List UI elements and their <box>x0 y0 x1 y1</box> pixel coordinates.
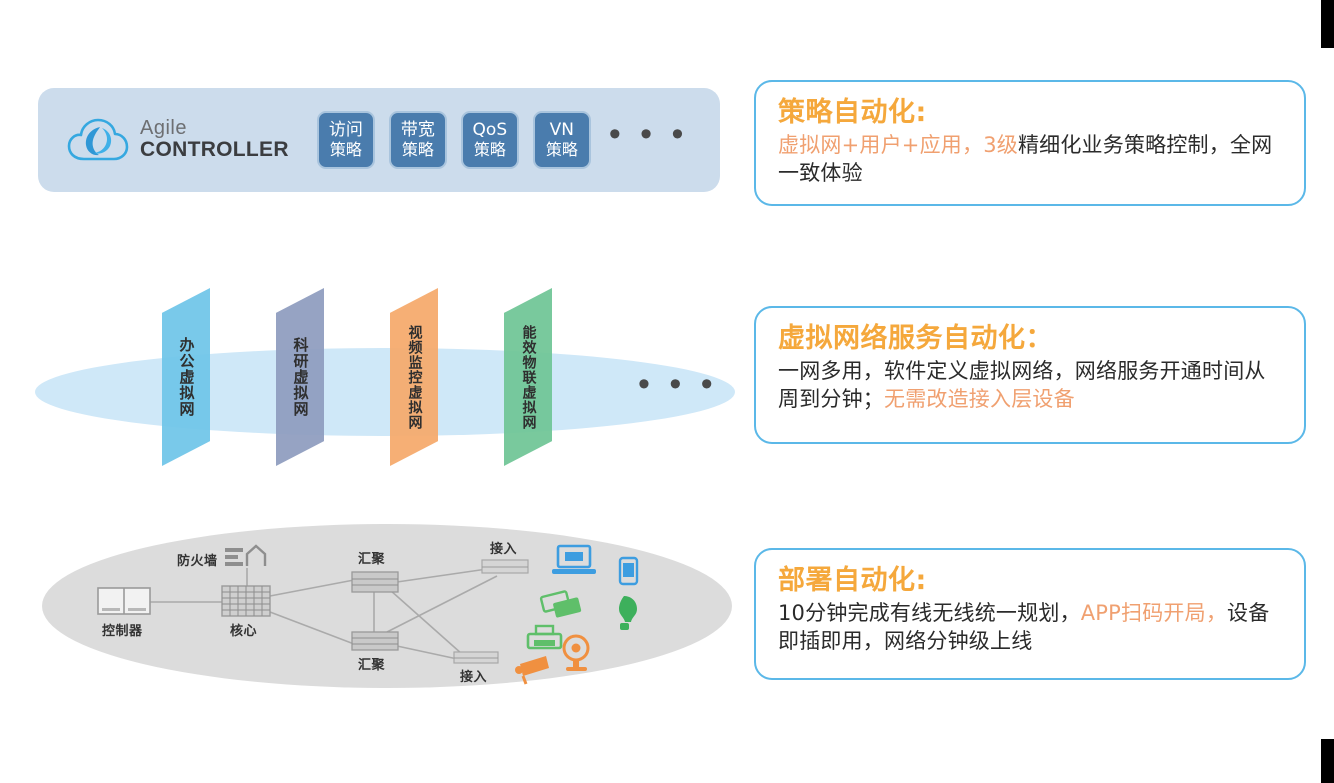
virtual-network-ellipse <box>35 348 735 436</box>
policy-pill-access-line2: 策略 <box>330 140 362 159</box>
topology-label-access-top: 接入 <box>490 538 517 557</box>
money-icon <box>541 591 582 618</box>
logo-agile-text: Agile <box>140 119 289 138</box>
policy-pill-qos[interactable]: QoS 策略 <box>461 111 519 169</box>
topology-label-controller: 控制器 <box>102 620 143 639</box>
vn-slab-office-label: 办公虚拟网 <box>162 288 210 466</box>
core-switch-icon <box>222 586 270 616</box>
policy-automation-card: 策略自动化: 虚拟网+用户+应用，3级精细化业务策略控制，全网一致体验 <box>754 80 1306 206</box>
topology-label-firewall: 防火墙 <box>177 550 218 569</box>
deployment-automation-body-highlight: APP扫码开局， <box>1081 601 1227 625</box>
virtual-network-service-body: 一网多用，软件定义虚拟网络，网络服务开通时间从周到分钟；无需改造接入层设备 <box>778 357 1282 413</box>
cctv-icon <box>515 656 549 684</box>
vn-slab-energy-iot-label: 能效物联虚拟网 <box>504 288 552 466</box>
deployment-automation-title: 部署自动化: <box>778 564 1282 597</box>
firewall-icon <box>225 546 265 566</box>
policy-pill-qos-line2: 策略 <box>474 140 506 159</box>
printer-icon <box>528 626 561 648</box>
topology-label-aggregation-top: 汇聚 <box>358 548 385 567</box>
virtual-network-service-title: 虚拟网络服务自动化： <box>778 322 1282 355</box>
cloud-swoosh-icon <box>66 115 130 165</box>
policy-automation-body: 虚拟网+用户+应用，3级精细化业务策略控制，全网一致体验 <box>778 131 1282 187</box>
policy-pill-access-line1: 访问 <box>329 121 363 140</box>
policy-pill-row: 访问 策略 带宽 策略 QoS 策略 VN 策略 • • • <box>317 111 689 169</box>
virtual-network-group: 办公虚拟网 科研虚拟网 视频监控虚拟网 能效物联虚拟网 • • • <box>30 288 735 498</box>
topology-label-core: 核心 <box>230 620 257 639</box>
topology-graphics <box>42 524 732 688</box>
right-edge-bar-top <box>1321 0 1334 48</box>
topology-label-access-bottom: 接入 <box>460 666 487 685</box>
vn-more-ellipsis: • • • <box>638 374 718 394</box>
webcam-icon <box>564 636 588 671</box>
network-topology-diagram: 控制器 防火墙 核心 汇聚 汇聚 接入 接入 <box>42 524 732 688</box>
slide-canvas: Agile CONTROLLER 访问 策略 带宽 策略 QoS 策略 VN 策… <box>0 0 1334 783</box>
controller-icon <box>98 588 150 614</box>
access-bottom-icon <box>454 652 498 663</box>
virtual-network-service-body-highlight: 无需改造接入层设备 <box>884 387 1075 411</box>
bulb-icon <box>619 596 637 630</box>
policy-pill-access[interactable]: 访问 策略 <box>317 111 375 169</box>
vn-slab-office[interactable]: 办公虚拟网 <box>162 288 210 466</box>
deployment-automation-body-rest: 10分钟完成有线无线统一规划， <box>778 601 1081 625</box>
deployment-automation-body: 10分钟完成有线无线统一规划，APP扫码开局，设备即插即用，网络分钟级上线 <box>778 599 1282 655</box>
virtual-network-service-card: 虚拟网络服务自动化： 一网多用，软件定义虚拟网络，网络服务开通时间从周到分钟；无… <box>754 306 1306 444</box>
access-top-icon <box>482 560 528 573</box>
right-edge-bar-bottom <box>1321 739 1334 783</box>
policy-automation-title: 策略自动化: <box>778 96 1282 129</box>
vn-slab-research[interactable]: 科研虚拟网 <box>276 288 324 466</box>
policy-pill-bandwidth-line1: 带宽 <box>401 121 435 140</box>
policy-pill-vn-line1: VN <box>550 121 574 140</box>
agile-controller-logo: Agile CONTROLLER <box>66 115 289 165</box>
aggregation-bottom-icon <box>352 632 398 650</box>
policy-pill-vn[interactable]: VN 策略 <box>533 111 591 169</box>
policy-pill-bandwidth[interactable]: 带宽 策略 <box>389 111 447 169</box>
policy-more-ellipsis: • • • <box>609 124 689 156</box>
tablet-icon <box>620 558 637 584</box>
aggregation-top-icon <box>352 572 398 592</box>
vn-slab-video-label: 视频监控虚拟网 <box>390 288 438 466</box>
policy-pill-qos-line1: QoS <box>473 121 508 140</box>
vn-slab-research-label: 科研虚拟网 <box>276 288 324 466</box>
vn-slab-video[interactable]: 视频监控虚拟网 <box>390 288 438 466</box>
topology-label-aggregation-bottom: 汇聚 <box>358 654 385 673</box>
logo-controller-text: CONTROLLER <box>140 138 289 161</box>
deployment-automation-card: 部署自动化: 10分钟完成有线无线统一规划，APP扫码开局，设备即插即用，网络分… <box>754 548 1306 680</box>
laptop-icon <box>552 546 596 574</box>
vn-slab-energy-iot[interactable]: 能效物联虚拟网 <box>504 288 552 466</box>
policy-pill-vn-line2: 策略 <box>546 140 578 159</box>
policy-automation-body-highlight: 虚拟网+用户+应用，3级 <box>778 133 1018 157</box>
agile-controller-bar: Agile CONTROLLER 访问 策略 带宽 策略 QoS 策略 VN 策… <box>38 88 720 192</box>
policy-pill-bandwidth-line2: 策略 <box>402 140 434 159</box>
